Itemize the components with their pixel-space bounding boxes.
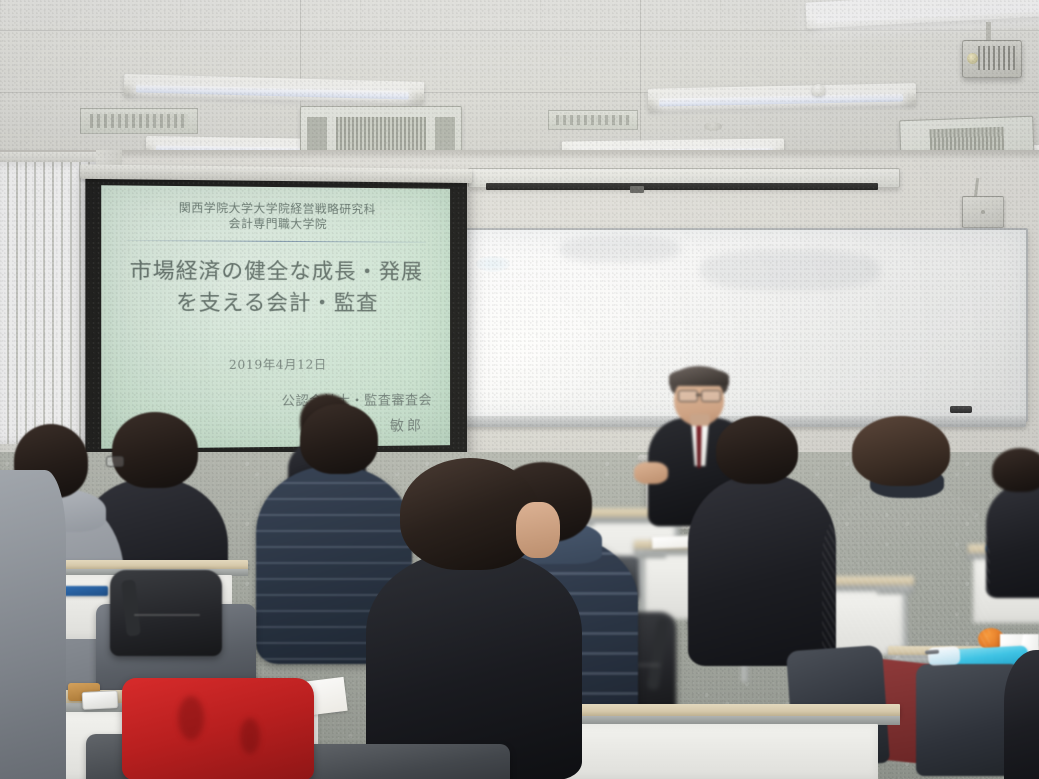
audience-member-tweed-coat	[822, 416, 990, 684]
slide-title-line-2: を支える会計・監査	[110, 287, 442, 319]
audience-member-front-right	[1004, 650, 1039, 779]
audience-member-black-sweater	[366, 458, 582, 779]
slide-header: 関西学院大学大学院経営戦略研究科 会計専門職大学院	[101, 200, 450, 233]
vertical-blinds[interactable]	[0, 162, 96, 444]
desk	[540, 704, 900, 779]
whiteboard-glare	[476, 256, 510, 272]
red-jacket-on-chair[interactable]	[122, 678, 314, 779]
slide-title-line-1: 市場経済の健全な成長・発展	[110, 255, 442, 288]
wall-ceiling-shadow	[0, 150, 1039, 160]
ceiling-seam	[0, 30, 1039, 31]
screen-housing-slot	[486, 183, 878, 190]
audience-member-right-edge	[986, 448, 1039, 598]
ceiling-projector	[962, 40, 1022, 78]
smoke-detector	[704, 122, 722, 131]
wall-speaker	[962, 196, 1004, 228]
ear-and-cheek	[516, 502, 560, 558]
black-backpack[interactable]	[110, 570, 222, 656]
eyeglasses-right-lens	[701, 390, 721, 402]
screen-pull-tab	[630, 186, 644, 193]
audience-member-front-left-corner	[0, 470, 66, 779]
slide-date: 2019年4月12日	[101, 355, 450, 374]
ceiling-air-vent	[80, 108, 198, 134]
whiteboard-smudge	[560, 236, 680, 262]
projector-lens	[967, 53, 978, 64]
projector-mount	[986, 22, 991, 42]
whiteboard-smudge	[700, 250, 880, 290]
eyeglasses-bridge	[696, 394, 701, 396]
slide-title: 市場経済の健全な成長・発展 を支える会計・監査	[110, 255, 442, 319]
chair[interactable]	[290, 744, 510, 779]
whiteboard-marker	[950, 406, 972, 413]
slide-header-line-2: 会計専門職大学院	[101, 215, 450, 233]
presenter-hairline	[669, 368, 729, 386]
eyeglasses-left-lens	[678, 390, 698, 402]
ceiling-air-vent	[548, 110, 638, 130]
lecture-hall-photograph: 関西学院大学大学院経営戦略研究科 会計専門職大学院 市場経済の健全な成長・発展 …	[0, 0, 1039, 779]
white-smartphone[interactable]	[82, 690, 119, 710]
presenter-hand	[634, 462, 668, 484]
slide-divider-rule	[126, 240, 426, 243]
audience-member-black-coat-red-scarf	[688, 416, 836, 666]
ceiling-sensor	[812, 84, 825, 96]
